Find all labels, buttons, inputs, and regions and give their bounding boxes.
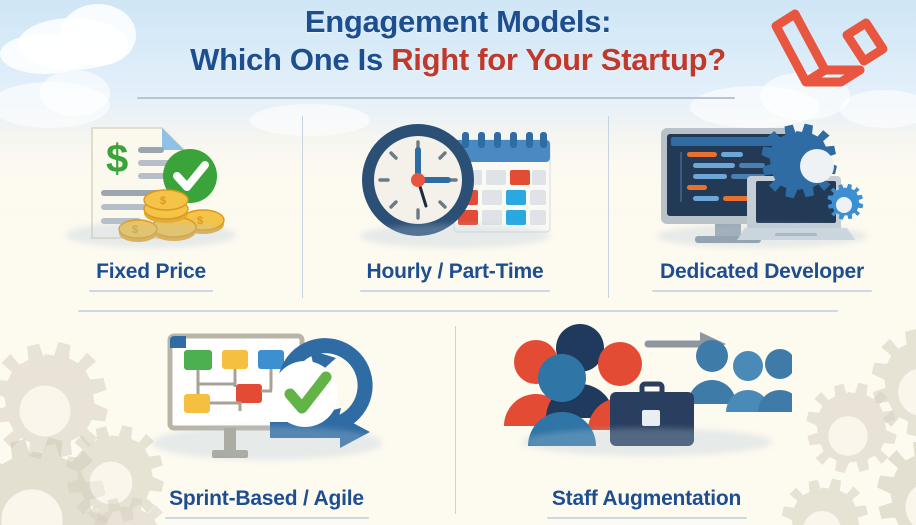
card-dedicated-developer[interactable]: Dedicated Developer	[608, 110, 916, 308]
title-line-1: Engagement Models:	[98, 4, 818, 40]
wall-clock	[362, 124, 474, 236]
cards-row-top: $	[0, 110, 916, 308]
card-label-divider	[360, 290, 550, 292]
remote-team	[688, 340, 792, 412]
card-label-divider	[652, 290, 872, 292]
title-divider	[137, 97, 735, 99]
sprint-agile-artwork	[78, 322, 455, 464]
card-label-divider	[165, 517, 369, 519]
artwork-shadow	[66, 222, 236, 248]
title-line-2-accent: Right for Your Startup?	[391, 42, 726, 77]
card-label: Staff Augmentation	[455, 487, 838, 511]
svg-text:$: $	[160, 195, 166, 207]
card-sprint-based-agile[interactable]: Sprint-Based / Agile	[78, 320, 455, 525]
title-line-2: Which One Is Right for Your Startup?	[98, 40, 818, 80]
page-title: Engagement Models: Which One Is Right fo…	[98, 4, 818, 80]
gear-small	[827, 184, 863, 220]
card-label: Sprint-Based / Agile	[78, 487, 455, 511]
cards-grid: $	[0, 110, 916, 525]
hourly-artwork	[302, 114, 608, 254]
card-label-divider	[547, 517, 747, 519]
title-line-2-plain: Which One Is	[190, 42, 391, 77]
staff-augmentation-artwork	[455, 322, 838, 464]
artwork-shadow	[522, 428, 772, 456]
artwork-shadow	[152, 426, 382, 460]
card-fixed-price[interactable]: $	[0, 110, 302, 308]
dedicated-developer-artwork	[608, 114, 916, 254]
infographic-poster: Engagement Models: Which One Is Right fo…	[0, 0, 916, 525]
artwork-shadow	[657, 224, 867, 248]
card-label-divider	[89, 290, 213, 292]
card-label: Dedicated Developer	[608, 260, 916, 284]
card-label: Hourly / Part-Time	[302, 260, 608, 284]
header: Engagement Models: Which One Is Right fo…	[0, 0, 916, 110]
svg-text:$: $	[106, 137, 128, 181]
artwork-shadow	[360, 224, 550, 248]
cards-row-bottom: Sprint-Based / Agile	[0, 320, 916, 525]
laravel-logo	[748, 4, 898, 102]
card-staff-augmentation[interactable]: Staff Augmentation	[455, 320, 838, 525]
fixed-price-artwork: $	[0, 114, 302, 254]
card-label: Fixed Price	[0, 260, 302, 284]
row-divider	[78, 310, 838, 312]
card-hourly-part-time[interactable]: Hourly / Part-Time	[302, 110, 608, 308]
gear-large	[761, 124, 836, 199]
